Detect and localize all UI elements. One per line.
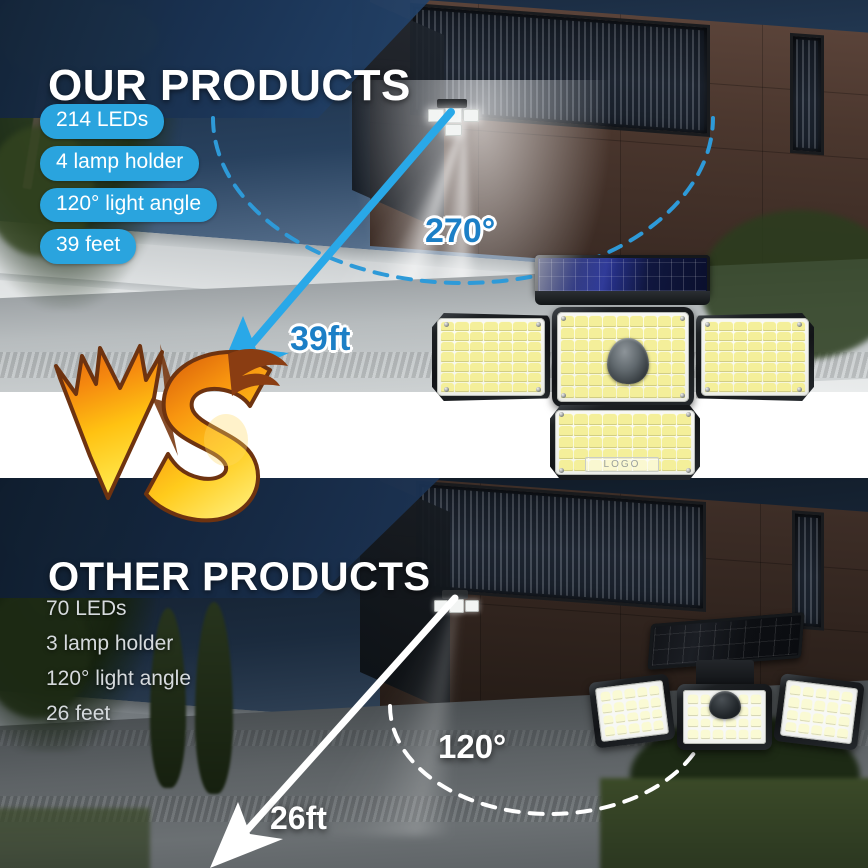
led-head-center xyxy=(677,684,772,750)
led-array xyxy=(705,322,805,392)
led-head-center xyxy=(552,307,694,407)
other-products-title: OTHER PRODUCTS xyxy=(48,555,431,600)
facade-window-left xyxy=(790,33,824,155)
other-product-fixture xyxy=(592,616,862,776)
spec-text-light-angle: 120° light angle xyxy=(46,668,191,689)
spec-text-leds: 70 LEDs xyxy=(46,598,191,619)
our-products-spec-list: 214 LEDs 4 lamp holder 120° light angle … xyxy=(40,104,217,264)
infographic-canvas: OUR PRODUCTS 214 LEDs 4 lamp holder 120°… xyxy=(0,0,868,868)
spec-badge-leds: 214 LEDs xyxy=(40,104,164,139)
spec-badge-lamp-holder: 4 lamp holder xyxy=(40,146,199,181)
led-array xyxy=(601,686,664,737)
other-products-spec-list: 70 LEDs 3 lamp holder 120° light angle 2… xyxy=(46,598,191,724)
led-head-right xyxy=(696,313,814,401)
detection-angle-label-120: 120° xyxy=(438,728,506,766)
lawn xyxy=(0,808,150,868)
motion-sensor-icon xyxy=(607,338,649,384)
spec-badge-light-angle: 120° light angle xyxy=(40,188,217,223)
led-array xyxy=(441,322,541,392)
logo-plate: LOGO xyxy=(585,457,659,472)
distance-label-26ft: 26ft xyxy=(270,800,327,837)
led-head-left xyxy=(432,313,550,401)
distance-label-39ft: 39ft xyxy=(290,320,350,359)
lawn xyxy=(600,778,868,868)
led-head-bottom: LOGO xyxy=(550,405,700,480)
motion-sensor-icon xyxy=(709,691,741,719)
solar-panel xyxy=(535,255,710,295)
led-head-right xyxy=(773,673,865,751)
spec-badge-distance: 39 feet xyxy=(40,229,136,264)
detection-angle-label-270: 270° xyxy=(425,212,495,251)
spec-text-lamp-holder: 3 lamp holder xyxy=(46,633,191,654)
led-array xyxy=(785,685,852,738)
our-product-fixture: LOGO xyxy=(432,255,824,480)
led-head-left xyxy=(588,673,675,748)
spec-text-distance: 26 feet xyxy=(46,703,191,724)
solar-panel-base xyxy=(535,291,710,305)
